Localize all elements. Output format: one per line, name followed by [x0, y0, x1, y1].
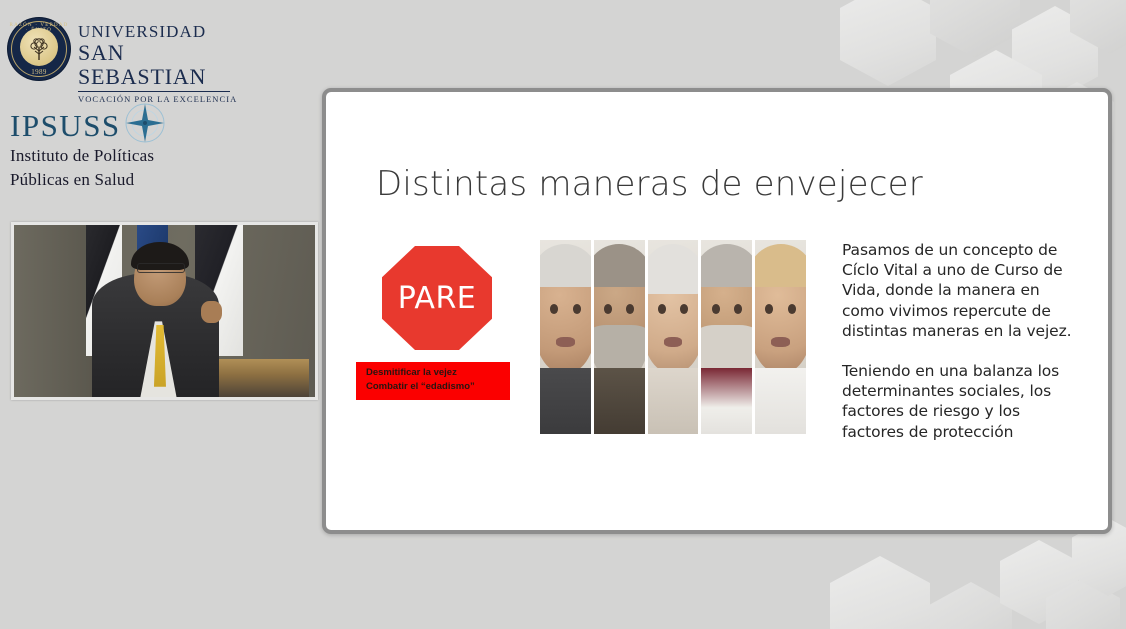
- institute-logo: IPSUSS Instituto de Políticas Públicas e…: [10, 108, 230, 190]
- face-panel-3: [648, 240, 699, 434]
- wordmark-divider: [78, 91, 230, 92]
- elderly-faces-collage: [540, 240, 806, 434]
- face-panel-2: [594, 240, 645, 434]
- slide-paragraph-2: Teniendo en una balanza los determinante…: [842, 361, 1072, 442]
- university-seal-icon: RAZÓN · VERDAD · ÉXITO 1989: [8, 18, 70, 80]
- callout-line-2: Combatir el “edadismo”: [366, 380, 504, 394]
- stop-sign-face: PARE: [382, 246, 492, 350]
- university-line1: UNIVERSIDAD: [78, 22, 238, 41]
- institute-subtitle-line1: Instituto de Políticas: [10, 145, 230, 166]
- speaker-video[interactable]: [11, 222, 318, 400]
- institute-subtitle-line2: Públicas en Salud: [10, 169, 230, 190]
- university-line2: SAN SEBASTIAN: [78, 41, 238, 89]
- institute-acronym: IPSUSS: [10, 110, 121, 141]
- face-panel-4: [701, 240, 752, 434]
- video-content: [14, 225, 315, 397]
- presentation-slide[interactable]: Distintas maneras de envejecer PARE Desm…: [322, 88, 1112, 534]
- speaker-hand: [201, 301, 222, 323]
- slide-body-text: Pasamos de un concepto de Cíclo Vital a …: [842, 240, 1072, 442]
- institute-acronym-row: IPSUSS: [10, 108, 230, 142]
- speaker-glasses: [137, 263, 184, 274]
- slide-paragraph-1: Pasamos de un concepto de Cíclo Vital a …: [842, 240, 1072, 341]
- stop-sign-graphic: PARE: [378, 242, 508, 360]
- stop-sign-label: PARE: [398, 281, 477, 316]
- face-panel-1: [540, 240, 591, 434]
- seal-year: 1989: [8, 68, 70, 76]
- university-wordmark: UNIVERSIDAD SAN SEBASTIAN VOCACIÓN POR L…: [78, 22, 238, 104]
- background-wall: [14, 225, 92, 397]
- callout-box: Desmitificar la vejez Combatir el “edadi…: [356, 362, 510, 400]
- callout-line-1: Desmitificar la vejez: [366, 366, 504, 380]
- presentation-screen: RAZÓN · VERDAD · ÉXITO 1989 UNIVERSIDAD …: [0, 0, 1126, 629]
- university-logo: RAZÓN · VERDAD · ÉXITO 1989 UNIVERSIDAD …: [8, 18, 238, 90]
- tree-seal-icon: [24, 34, 54, 64]
- slide-title: Distintas maneras de envejecer: [376, 164, 923, 204]
- face-panel-5: [755, 240, 806, 434]
- compass-rose-icon: [123, 101, 167, 145]
